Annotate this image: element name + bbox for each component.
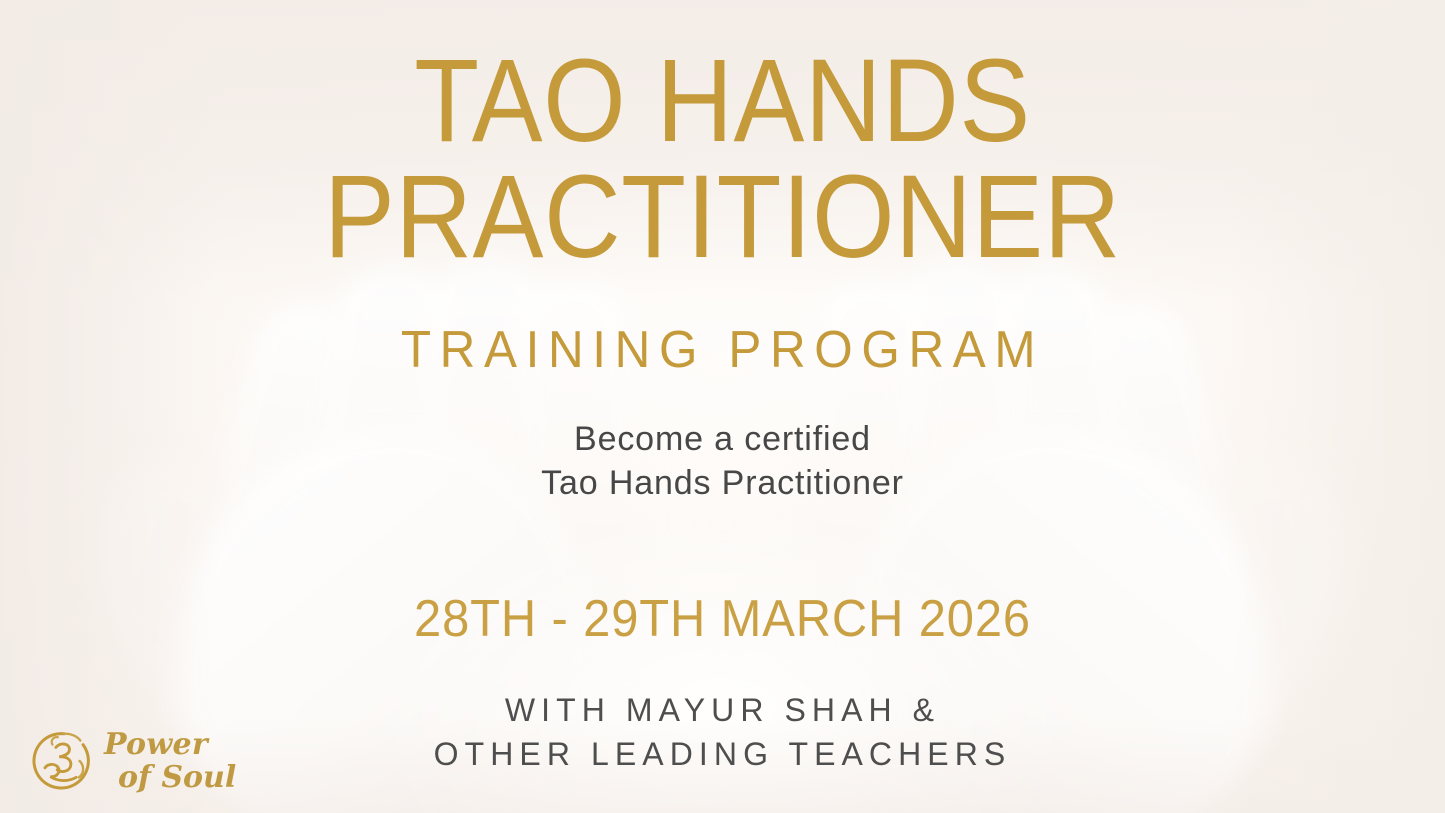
logo-wordmark: Power of Soul xyxy=(104,730,236,793)
tagline: Become a certified Tao Hands Practitione… xyxy=(0,418,1445,505)
presenters-line-1: WITH MAYUR SHAH & xyxy=(0,689,1445,733)
power-of-soul-circle-emblem-icon xyxy=(30,727,98,795)
power-of-soul-logo: Power of Soul xyxy=(30,727,236,795)
poster-content: TAO HANDS PRACTITIONER TRAINING PROGRAM … xyxy=(0,0,1445,813)
page-title: TAO HANDS PRACTITIONER xyxy=(72,44,1373,275)
logo-word-line-2: of Soul xyxy=(118,763,236,793)
event-dates: 28TH - 29TH MARCH 2026 xyxy=(43,589,1401,649)
tagline-line-1: Become a certified xyxy=(0,418,1445,462)
tagline-line-2: Tao Hands Practitioner xyxy=(0,462,1445,506)
logo-word-line-1: Power xyxy=(104,730,208,760)
title-line-2: PRACTITIONER xyxy=(72,160,1373,276)
program-subtitle: TRAINING PROGRAM xyxy=(36,320,1409,380)
poster-canvas: TAO HANDS PRACTITIONER TRAINING PROGRAM … xyxy=(0,0,1445,813)
title-line-1: TAO HANDS xyxy=(414,35,1030,167)
